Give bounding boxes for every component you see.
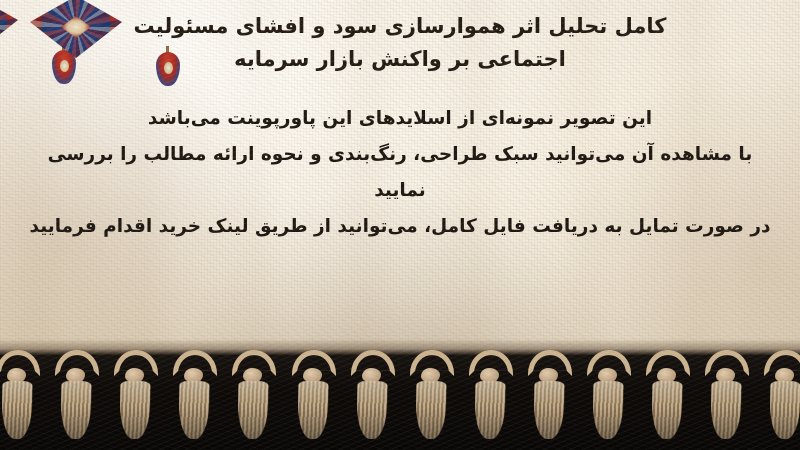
tassel-icon	[408, 352, 452, 442]
tassel-icon	[762, 352, 800, 442]
tassel-icon	[467, 352, 511, 442]
slide-body: این تصویر نمونه‌ای از اسلایدهای این پاور…	[24, 101, 776, 245]
slide-title-line: اجتماعی بر واکنش بازار سرمایه	[24, 43, 776, 76]
tassel-icon	[703, 352, 747, 442]
tassel-icon	[112, 352, 156, 442]
tassel-icon	[53, 352, 97, 442]
fringe-tassel-row	[0, 352, 800, 444]
presentation-slide: کامل تحلیل اثر هموارسازی سود و افشای مسئ…	[0, 0, 800, 450]
tassel-icon	[0, 352, 38, 442]
slide-body-line: این تصویر نمونه‌ای از اسلایدهای این پاور…	[24, 101, 776, 137]
slide-body-line: با مشاهده آن می‌توانید سبک طراحی، رنگ‌بن…	[24, 137, 776, 209]
slide-title-line: کامل تحلیل اثر هموارسازی سود و افشای مسئ…	[24, 10, 776, 43]
tassel-icon	[230, 352, 274, 442]
slide-title: کامل تحلیل اثر هموارسازی سود و افشای مسئ…	[24, 10, 776, 75]
tassel-icon	[349, 352, 393, 442]
slide-body-line: در صورت تمایل به دریافت فایل کامل، می‌تو…	[24, 209, 776, 245]
tassel-icon	[585, 352, 629, 442]
tassel-icon	[644, 352, 688, 442]
tassel-icon	[526, 352, 570, 442]
tassel-icon	[290, 352, 334, 442]
tassel-icon	[171, 352, 215, 442]
